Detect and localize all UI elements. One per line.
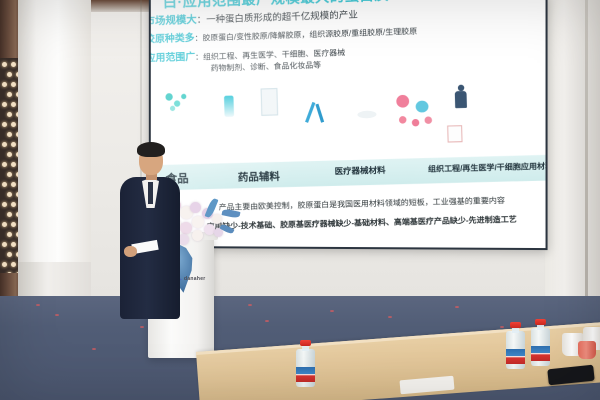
water-bottle	[506, 323, 525, 369]
bottle-label	[506, 349, 525, 364]
bullet-1-value: 一种蛋白质形成的超千亿规模的产业	[206, 9, 358, 25]
slide-footnote-1: 产品主要由欧美控制，胶原蛋白是我国医用材料领域的短板，工业强基的重要内容	[219, 194, 506, 213]
speaker-tie	[148, 182, 153, 204]
category-tissue-engineering: 组织工程/再生医学/干细胞应用材料	[428, 160, 546, 175]
speaker-person	[118, 142, 182, 318]
category-pharma-excipients: 药品辅料	[238, 167, 280, 184]
surgical-tool-icon	[308, 102, 312, 123]
wall-seam-right	[585, 0, 588, 300]
bullet-2-key: 胶原种类多	[151, 32, 195, 45]
conference-presentation-photo: 白·应用范围最广规模最大的蛋白质 市场规模大：一种蛋白质形成的超千亿规模的产业 …	[0, 0, 600, 400]
bullet-1-sep: ：	[197, 14, 207, 25]
bottle-label	[531, 346, 550, 361]
paper-cup	[578, 341, 596, 359]
patient-person-icon	[455, 85, 467, 109]
bottle-cap	[300, 340, 311, 346]
water-bottle	[296, 341, 315, 387]
water-bottle	[531, 320, 550, 366]
bottle-cap	[510, 322, 521, 328]
speaker-hair	[137, 142, 165, 157]
bullet-3-key: 应用范围广	[151, 51, 196, 64]
bullet-1-key: 市场规模大	[151, 14, 197, 27]
medicine-box-icon	[261, 88, 279, 116]
category-medical-device-materials: 医疗器械材料	[334, 164, 385, 177]
white-pillar	[18, 0, 91, 300]
slide-illustration-row	[151, 75, 546, 163]
implant-icon	[357, 111, 376, 119]
danaher-wordmark: danaher	[184, 276, 206, 282]
gel-tube-icon	[224, 96, 234, 117]
slide-bullet-3-cont: 药物制剂、诊断、食品化妆品等	[211, 59, 322, 74]
document-stack-icon	[447, 125, 462, 142]
wall-right	[545, 0, 600, 300]
bottle-label	[296, 367, 315, 382]
speaker-hand	[124, 246, 137, 257]
bullet-2-value: 胶原蛋白/变性胶原/降解胶原，组织源胶原/重组胶原/生理胶原	[202, 26, 417, 42]
slide-footnote-2: 应用缺少-技术基础、胶原基医疗器械缺少-基础材料、高端基医疗产品缺少-先进制造工…	[207, 213, 517, 232]
bottle-cap	[535, 319, 546, 325]
